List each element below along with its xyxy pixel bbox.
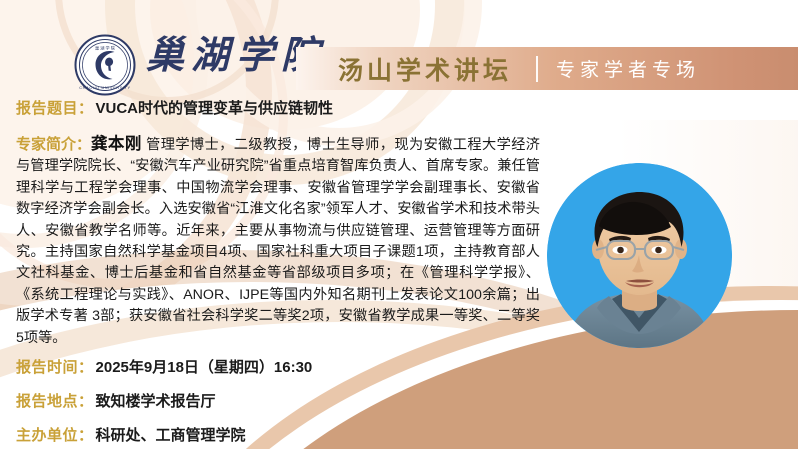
speaker-portrait-photo (547, 163, 732, 348)
speaker-bio-text: 龚本刚 管理学博士，二级教授，博士生导师，现为安徽工程大学经济与管理学院院长、“… (16, 134, 540, 349)
talk-place-value: 致知楼学术报告厅 (96, 390, 216, 411)
talk-place-label: 报告地点： (16, 390, 94, 411)
talk-title-row: 报告题目： VUCA时代的管理变革与供应链韧性 (16, 97, 333, 118)
talk-organizer-label: 主办单位： (16, 424, 94, 445)
talk-title-label: 报告题目： (16, 97, 94, 118)
detail-row-organizer: 主办单位： 科研处、工商管理学院 (16, 424, 246, 445)
speaker-bio-body: 管理学博士，二级教授，博士生导师，现为安徽工程大学经济与管理学院院长、“安徽汽车… (16, 137, 540, 346)
speaker-bio-label: 专家简介： (16, 134, 91, 155)
speaker-bio-row: 专家简介： 龚本刚 管理学博士，二级教授，博士生导师，现为安徽工程大学经济与管理… (16, 134, 540, 349)
speaker-name: 龚本刚 (91, 135, 142, 153)
detail-row-time: 报告时间： 2025年9月18日（星期四）16:30 (16, 356, 312, 377)
talk-time-label: 报告时间： (16, 356, 94, 377)
talk-organizer-value: 科研处、工商管理学院 (96, 424, 246, 445)
talk-title-value: VUCA时代的管理变革与供应链韧性 (96, 97, 334, 118)
talk-time-value: 2025年9月18日（星期四）16:30 (96, 356, 313, 377)
poster-root: 巢 湖 学 院 CHAOHU UNIVERSITY 巢湖学院 CHAOHU UN… (0, 0, 798, 449)
detail-row-place: 报告地点： 致知楼学术报告厅 (16, 390, 216, 411)
